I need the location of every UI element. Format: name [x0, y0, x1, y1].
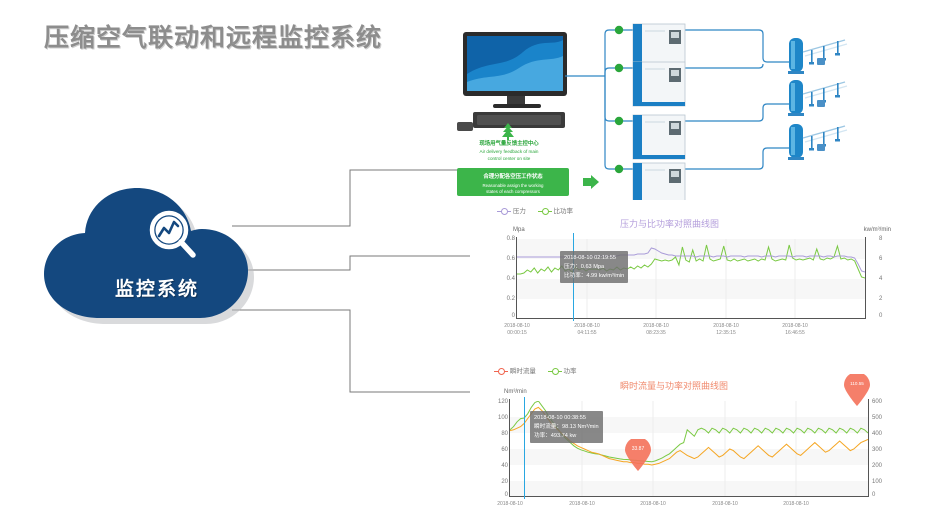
flow-ytick-right-1: 500 — [872, 415, 892, 421]
legend-label-flow: 瞬时流量 — [510, 368, 536, 375]
legend-label-pressure: 压力 — [513, 208, 526, 215]
flow-xtick-2: 2018-08-10 — [627, 501, 679, 508]
xtick-1-time: 04:11:55 — [561, 330, 613, 337]
flow-marker-2-label: 110.55 — [844, 381, 870, 386]
xtick-4-date: 2018-08-10 — [769, 323, 821, 330]
flow-xtick-0: 2018-08-10 — [484, 501, 536, 508]
pressure-tooltip-line2: 比功率：4.99 kw/m³/min — [564, 272, 624, 281]
flow-ytick-right-3: 300 — [872, 447, 892, 453]
pressure-tooltip-timestamp: 2018-08-10 02:19:55 — [564, 254, 624, 263]
pressure-chart-tooltip: 2018-08-10 02:19:55 压力：0.63 Mpa 比功率：4.99… — [560, 251, 628, 283]
xtick-2-date: 2018-08-10 — [630, 323, 682, 330]
pressure-chart-right-unit: kw/m³/min — [864, 227, 891, 233]
ytick-right-0: 8 — [879, 236, 895, 242]
flow-xtick-4-date: 2018-08-10 — [770, 501, 822, 508]
pressure-chart: 压力 比功率 压力与比功率对照曲线图 Mpa kw/m³/min 0.8 0.6… — [485, 203, 895, 338]
flow-tooltip-line1: 瞬时流量：98.13 Nm³/min — [534, 423, 599, 432]
flow-chart-crosshair — [524, 397, 525, 499]
flow-y-axis-left — [509, 399, 510, 497]
ytick-right-3: 2 — [879, 296, 895, 302]
flow-chart-title: 瞬时流量与功率对照曲线图 — [620, 379, 728, 392]
flow-chart-tooltip: 2018-08-10 00:38:55 瞬时流量：98.13 Nm³/min 功… — [530, 411, 603, 443]
flow-xtick-4: 2018-08-10 — [770, 501, 822, 508]
legend-mark-flow — [494, 371, 508, 372]
pressure-tooltip-line1: 压力：0.63 Mpa — [564, 263, 624, 272]
flow-power-chart: 瞬时流量 功率 瞬时流量与功率对照曲线图 Nm³/min 120 100 80 … — [480, 363, 900, 523]
legend-item-specific-power[interactable]: 比功率 — [538, 205, 573, 215]
legend-item-pressure[interactable]: 压力 — [497, 205, 526, 215]
legend-label-specific-power: 比功率 — [553, 208, 573, 215]
flow-tooltip-timestamp: 2018-08-10 00:38:55 — [534, 414, 599, 423]
magnifier-chart-icon — [146, 208, 202, 264]
ytick-left-3: 0.2 — [493, 296, 515, 302]
ytick-right-1: 6 — [879, 256, 895, 262]
flow-ytick-left-4: 40 — [484, 463, 508, 469]
flow-xtick-3: 2018-08-10 — [699, 501, 751, 508]
flow-ytick-right-5: 100 — [872, 479, 892, 485]
legend-mark-power — [548, 371, 562, 372]
ytick-left-2: 0.4 — [493, 276, 515, 282]
flow-xtick-0-date: 2018-08-10 — [484, 501, 536, 508]
pressure-y-axis-left — [516, 237, 517, 319]
flow-xtick-3-date: 2018-08-10 — [699, 501, 751, 508]
ytick-right-2: 4 — [879, 276, 895, 282]
flow-ytick-left-3: 60 — [484, 447, 508, 453]
flow-xtick-2-date: 2018-08-10 — [627, 501, 679, 508]
cloud-label: 监控系统 — [38, 274, 276, 301]
xtick-2: 2018-08-10 08:23:35 — [630, 323, 682, 337]
flow-ytick-right-0: 600 — [872, 399, 892, 405]
map-pin-icon — [625, 439, 651, 471]
pipeline-wiring — [437, 22, 942, 200]
legend-label-power: 功率 — [563, 368, 576, 375]
flow-chart-legend[interactable]: 瞬时流量 功率 — [494, 365, 586, 375]
legend-item-flow[interactable]: 瞬时流量 — [494, 365, 536, 375]
ytick-right-4: 0 — [879, 313, 895, 319]
slide-canvas: 压缩空气联动和远程监控系统 监控系统 — [0, 0, 945, 529]
pressure-chart-title: 压力与比功率对照曲线图 — [620, 217, 719, 230]
legend-mark-pressure — [497, 211, 511, 212]
xtick-1: 2018-08-10 04:11:55 — [561, 323, 613, 337]
xtick-4: 2018-08-10 16:46:55 — [769, 323, 821, 337]
flow-marker-2[interactable]: 110.55 — [844, 374, 870, 406]
flow-ytick-right-6: 0 — [872, 492, 892, 498]
xtick-1-date: 2018-08-10 — [561, 323, 613, 330]
map-pin-icon — [844, 374, 870, 406]
xtick-4-time: 16:46:55 — [769, 330, 821, 337]
xtick-3: 2018-08-10 12:35:15 — [700, 323, 752, 337]
ytick-left-4: 0 — [493, 313, 515, 319]
flow-ytick-right-2: 400 — [872, 431, 892, 437]
flow-tooltip-line2: 功率：493.74 kw — [534, 432, 599, 441]
legend-item-power[interactable]: 功率 — [548, 365, 577, 375]
flow-ytick-right-4: 200 — [872, 463, 892, 469]
flow-marker-1-label: 33.87 — [625, 446, 651, 452]
flow-y-axis-right — [868, 399, 869, 497]
flow-xtick-1-date: 2018-08-10 — [556, 501, 608, 508]
system-topology-diagram: 现场用气量反馈主控中心 Air delivery feedback of mai… — [437, 22, 942, 200]
xtick-0: 2018-08-10 00:00:15 — [491, 323, 543, 337]
xtick-0-time: 00:00:15 — [491, 330, 543, 337]
flow-chart-left-unit: Nm³/min — [504, 389, 527, 395]
pressure-chart-legend[interactable]: 压力 比功率 — [497, 205, 583, 215]
flow-ytick-left-2: 80 — [484, 431, 508, 437]
flow-ytick-left-6: 0 — [484, 492, 508, 498]
flow-ytick-left-0: 120 — [484, 399, 508, 405]
legend-mark-specific-power — [538, 211, 552, 212]
ytick-left-0: 0.8 — [493, 236, 515, 242]
xtick-2-time: 08:23:35 — [630, 330, 682, 337]
xtick-0-date: 2018-08-10 — [491, 323, 543, 330]
pressure-chart-left-unit: Mpa — [513, 227, 525, 233]
page-title: 压缩空气联动和远程监控系统 — [44, 18, 382, 54]
xtick-3-date: 2018-08-10 — [700, 323, 752, 330]
monitoring-cloud[interactable]: 监控系统 — [38, 186, 294, 336]
flow-ytick-left-5: 20 — [484, 479, 508, 485]
flow-marker-1[interactable]: 33.87 — [625, 439, 651, 471]
xtick-3-time: 12:35:15 — [700, 330, 752, 337]
flow-xtick-1: 2018-08-10 — [556, 501, 608, 508]
flow-ytick-left-1: 100 — [484, 415, 508, 421]
pressure-y-axis-right — [865, 237, 866, 319]
ytick-left-1: 0.6 — [493, 256, 515, 262]
